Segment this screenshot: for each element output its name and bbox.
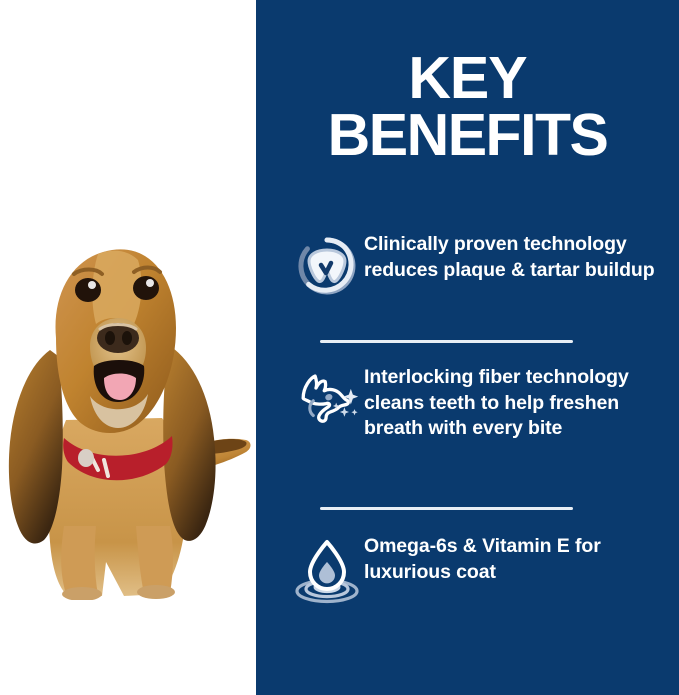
benefit-item-plaque-tartar: Clinically proven technology reduces pla… (256, 232, 679, 318)
spacer (256, 510, 679, 534)
benefit-text: Clinically proven technology reduces pla… (360, 232, 661, 283)
benefit-text: Omega-6s & Vitamin E for luxurious coat (360, 534, 661, 585)
title-line-benefits: BENEFITS (256, 107, 679, 164)
benefit-text: Interlocking fiber technology cleans tee… (360, 365, 661, 442)
water-droplet-ripple-icon (294, 534, 360, 606)
benefit-list: Clinically proven technology reduces pla… (256, 232, 679, 606)
benefit-divider-1 (320, 340, 573, 343)
benefits-panel: KEY BENEFITS Clinically proven technolog… (256, 0, 679, 695)
key-benefits-banner: KEY BENEFITS Clinically proven technolog… (0, 0, 679, 695)
dachshund-photo (0, 170, 256, 600)
page-title: KEY BENEFITS (256, 50, 679, 164)
spacer (256, 483, 679, 507)
spacer (256, 343, 679, 365)
spacer (256, 318, 679, 340)
benefit-item-omega-vitamin: Omega-6s & Vitamin E for luxurious coat (256, 534, 679, 606)
title-line-key: KEY (256, 50, 679, 107)
pet-photo-panel (0, 0, 256, 695)
benefit-item-fiber-breath: Interlocking fiber technology cleans tee… (256, 365, 679, 483)
benefit-divider-2 (320, 507, 573, 510)
dog-head-sparkle-icon (294, 365, 360, 431)
tooth-shield-icon (294, 232, 360, 298)
